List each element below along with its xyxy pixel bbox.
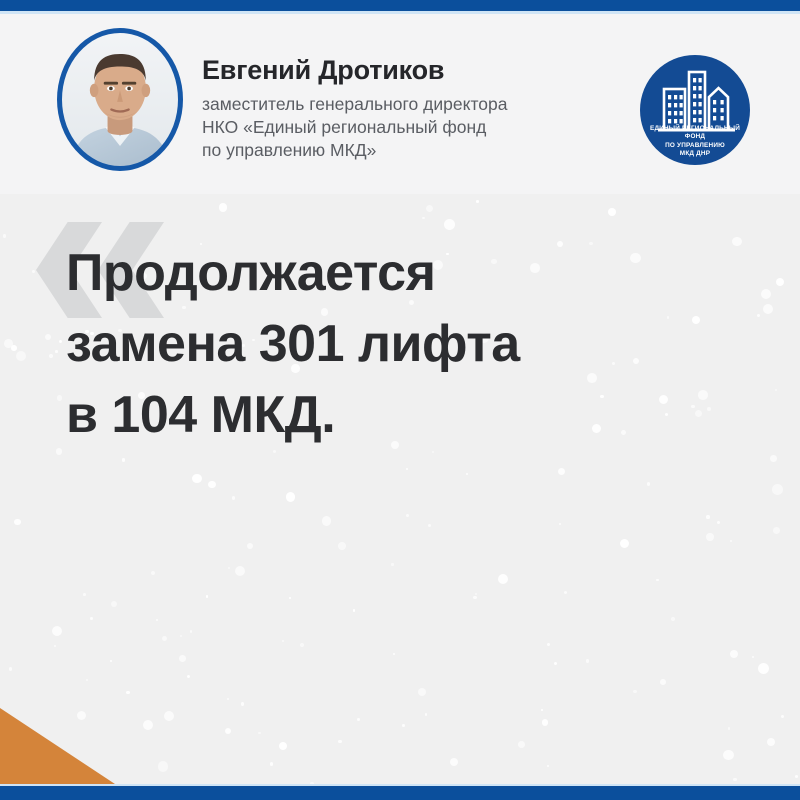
snow-dot	[656, 579, 658, 581]
snow-dot	[227, 698, 229, 700]
snow-dot	[772, 484, 783, 495]
snow-dot	[542, 719, 549, 726]
snow-dot	[608, 208, 616, 216]
snow-dot	[54, 645, 56, 647]
snow-dot	[77, 711, 86, 720]
snow-dot	[554, 662, 558, 666]
snow-dot	[111, 601, 117, 607]
snow-dot	[781, 715, 784, 718]
snow-dot	[391, 563, 393, 565]
snow-dot	[406, 514, 409, 517]
snow-dot	[707, 407, 711, 411]
snow-dot	[282, 640, 284, 642]
snow-dot	[757, 314, 760, 317]
snow-dot	[444, 219, 455, 230]
snow-dot	[450, 758, 459, 767]
logo-text-line-1: ЕДИНЫЙ РЕГИОНАЛЬНЫЙ ФОНД	[640, 125, 750, 142]
snow-dot	[232, 496, 235, 499]
snow-dot	[728, 727, 730, 729]
snow-dot	[770, 455, 777, 462]
snow-dot	[428, 524, 431, 527]
snow-dot	[206, 595, 208, 597]
snow-dot	[235, 566, 245, 576]
snow-dot	[49, 354, 53, 358]
snow-dot	[4, 339, 13, 348]
snow-dot	[473, 596, 476, 599]
snow-dot	[353, 609, 355, 611]
snow-dot	[192, 474, 202, 484]
snow-dot	[9, 667, 13, 671]
snow-dot	[143, 720, 153, 730]
snow-dot	[620, 539, 629, 548]
avatar	[57, 28, 183, 171]
snow-dot	[338, 542, 346, 550]
snow-dot	[730, 650, 738, 658]
snow-dot	[776, 278, 784, 286]
snow-dot	[422, 217, 424, 219]
snow-dot	[164, 711, 174, 721]
snow-dot	[228, 567, 230, 569]
snow-dot	[16, 351, 26, 361]
snow-dot	[57, 395, 62, 400]
snow-dot	[90, 617, 93, 620]
snow-dot	[773, 527, 780, 534]
snow-dot	[647, 482, 650, 485]
orange-corner-bottom-left	[0, 708, 118, 786]
snow-dot	[717, 521, 720, 524]
snow-dot	[671, 617, 675, 621]
snow-dot	[732, 237, 742, 247]
snow-dot	[730, 540, 733, 543]
snow-dot	[564, 591, 567, 594]
snow-dot	[393, 653, 395, 655]
snow-dot	[633, 690, 636, 693]
snow-dot	[52, 626, 62, 636]
snow-dot	[156, 619, 158, 621]
snow-dot	[241, 702, 244, 705]
snow-dot	[180, 635, 182, 637]
snow-dot	[426, 205, 433, 212]
snow-dot	[45, 334, 51, 340]
snow-dot	[752, 656, 754, 658]
snow-dot	[357, 718, 360, 721]
snow-dot	[338, 740, 342, 744]
snow-dot	[541, 709, 543, 711]
snow-dot	[219, 203, 227, 211]
logo-text: ЕДИНЫЙ РЕГИОНАЛЬНЫЙ ФОНД ПО УПРАВЛЕНИЮ М…	[640, 125, 750, 159]
snow-dot	[559, 523, 561, 525]
snow-dot	[126, 691, 129, 694]
avatar-ring	[57, 28, 183, 171]
snow-dot	[547, 643, 550, 646]
snow-dot	[56, 448, 63, 455]
bottom-blue-bar	[0, 786, 800, 800]
snow-dot	[425, 713, 428, 716]
snow-dot	[660, 679, 666, 685]
snow-dot	[547, 765, 549, 767]
snow-dot	[558, 468, 565, 475]
person-role-line-1: заместитель генерального директора	[202, 93, 507, 116]
snow-dot	[406, 468, 409, 471]
snow-dot	[83, 593, 86, 596]
snow-dot	[775, 389, 777, 391]
quote-line-1: Продолжается	[66, 238, 706, 309]
snow-dot	[208, 481, 215, 488]
snow-dot	[158, 761, 169, 772]
snow-dot	[59, 340, 62, 343]
snow-dot	[706, 515, 709, 518]
snow-dot	[247, 543, 253, 549]
snow-dot	[162, 636, 167, 641]
person-role-line-3: по управлению МКД»	[202, 139, 507, 162]
snow-dot	[418, 688, 426, 696]
snow-dot	[476, 200, 479, 203]
snow-dot	[402, 724, 405, 727]
snow-dot	[122, 458, 126, 462]
snow-dot	[187, 675, 190, 678]
snow-dot	[706, 533, 714, 541]
snow-dot	[723, 750, 734, 761]
snow-dot	[225, 728, 231, 734]
person-role-line-2: НКО «Единый региональный фонд	[202, 116, 507, 139]
quote-text: Продолжается замена 301 лифта в 104 МКД.	[66, 238, 706, 452]
snow-dot	[289, 597, 291, 599]
snow-dot	[270, 762, 274, 766]
snow-dot	[466, 473, 468, 475]
snow-dot	[32, 270, 35, 273]
snow-dot	[795, 775, 798, 778]
snow-dot	[498, 574, 508, 584]
snow-dot	[279, 742, 287, 750]
top-blue-bar	[0, 0, 800, 11]
snow-dot	[733, 778, 736, 781]
top-lightblue-line	[0, 11, 800, 14]
snow-dot	[586, 659, 590, 663]
snow-dot	[475, 593, 477, 595]
snow-dot	[763, 304, 773, 314]
quote-line-3: в 104 МКД.	[66, 380, 706, 451]
logo-text-line-3: МКД ДНР	[640, 150, 750, 158]
poster-canvas: Евгений Дротиков заместитель генеральног…	[0, 0, 800, 800]
snow-dot	[151, 571, 155, 575]
snow-dot	[258, 732, 260, 734]
snow-dot	[86, 679, 88, 681]
snow-dot	[518, 741, 525, 748]
logo-text-line-2: ПО УПРАВЛЕНИЮ	[640, 142, 750, 150]
snow-dot	[14, 519, 20, 525]
snow-dot	[761, 289, 772, 300]
quote-line-2: замена 301 лифта	[66, 309, 706, 380]
snow-dot	[300, 643, 304, 647]
snow-dot	[11, 345, 17, 351]
snow-dot	[767, 738, 775, 746]
snow-dot	[286, 492, 295, 501]
snow-dot	[3, 234, 7, 238]
organization-logo: ЕДИНЫЙ РЕГИОНАЛЬНЫЙ ФОНД ПО УПРАВЛЕНИЮ М…	[640, 55, 750, 165]
snow-dot	[110, 660, 113, 663]
person-info: Евгений Дротиков заместитель генеральног…	[202, 56, 507, 162]
snow-dot	[179, 655, 186, 662]
snow-dot	[55, 350, 58, 353]
snow-dot	[190, 630, 192, 632]
snow-dot	[322, 516, 332, 526]
person-name: Евгений Дротиков	[202, 56, 507, 86]
snow-dot	[758, 663, 769, 674]
